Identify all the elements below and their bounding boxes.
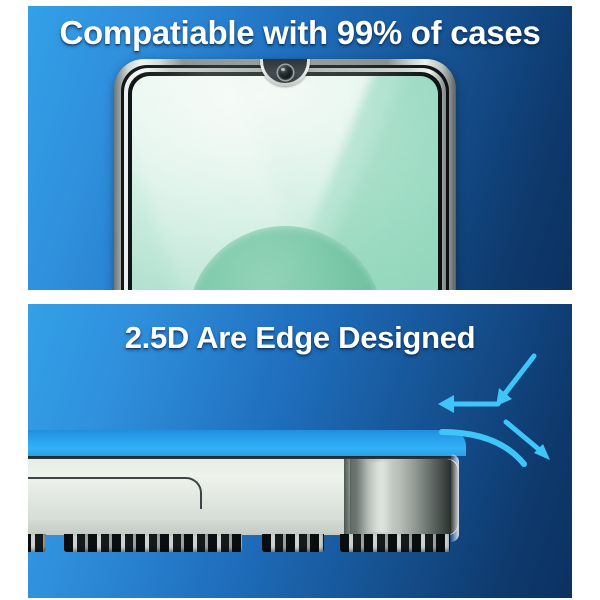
curved-edge-arrow	[442, 432, 524, 464]
speaker-grille	[28, 534, 442, 552]
device-endcap-seam	[344, 459, 353, 535]
impact-arrows-group	[426, 352, 572, 482]
headline-edge-design: 2.5D Are Edge Designed	[28, 320, 572, 356]
device-groove-line	[28, 477, 202, 509]
phone-edge-closeup	[28, 430, 466, 598]
panel-compatibility: Compatiable with 99% of cases	[28, 6, 572, 290]
panel-divider	[0, 290, 600, 304]
page-margin-top	[0, 0, 600, 6]
waterdrop-notch	[260, 59, 310, 89]
device-screen-strip	[28, 430, 466, 456]
incoming-impact-arrow	[496, 356, 534, 406]
grille-slot-group	[64, 534, 242, 552]
deflected-left-arrow	[438, 395, 498, 413]
grille-slot-group	[28, 534, 46, 552]
product-feature-poster: Compatiable with 99% of cases 2.5D Are E…	[0, 0, 600, 600]
grille-slot-group	[262, 534, 324, 552]
phone-screen	[132, 76, 438, 290]
phone-front-illustration	[114, 59, 456, 290]
headline-compatibility: Compatiable with 99% of cases	[28, 14, 572, 52]
device-endcap-highlight	[366, 462, 392, 532]
grille-slot-group	[340, 534, 450, 552]
panel-edge-design: 2.5D Are Edge Designed	[28, 304, 572, 598]
front-camera-icon	[278, 65, 293, 80]
